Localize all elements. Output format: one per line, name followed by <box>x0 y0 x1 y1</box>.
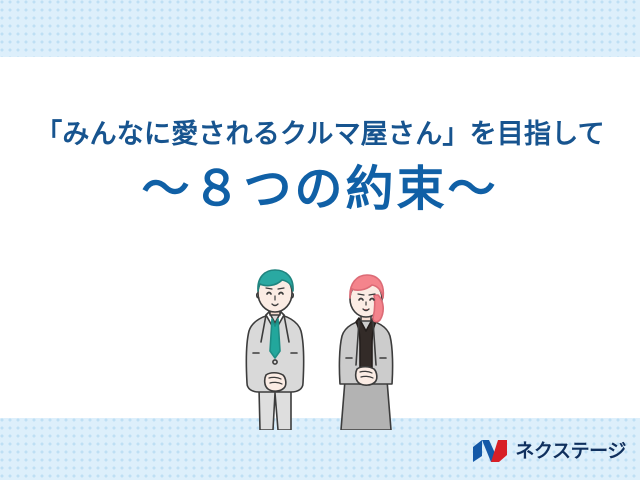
female-ponytail <box>373 295 383 322</box>
male-jacket-button <box>273 360 277 364</box>
nextage-logo-text: ネクステージ <box>515 442 626 461</box>
two-bowing-staff-illustration <box>228 265 418 430</box>
dot-pattern-band-top <box>0 0 640 57</box>
female-staff-figure <box>339 275 392 430</box>
male-trousers <box>259 388 291 430</box>
female-mouth <box>363 309 369 311</box>
headline-secondary: ～８つの約束～ <box>0 162 640 217</box>
female-skirt <box>341 380 391 430</box>
headline-primary: 「みんなに愛されるクルマ屋さん」を目指して <box>0 118 640 152</box>
nextage-logo: ネクステージ <box>472 434 626 468</box>
male-tie <box>270 319 280 358</box>
promo-banner: 「みんなに愛されるクルマ屋さん」を目指して ～８つの約束～ <box>0 0 640 480</box>
nextage-n-logo-icon <box>472 438 508 464</box>
male-staff-figure <box>246 270 303 430</box>
headline-block: 「みんなに愛されるクルマ屋さん」を目指して ～８つの約束～ <box>0 118 640 217</box>
